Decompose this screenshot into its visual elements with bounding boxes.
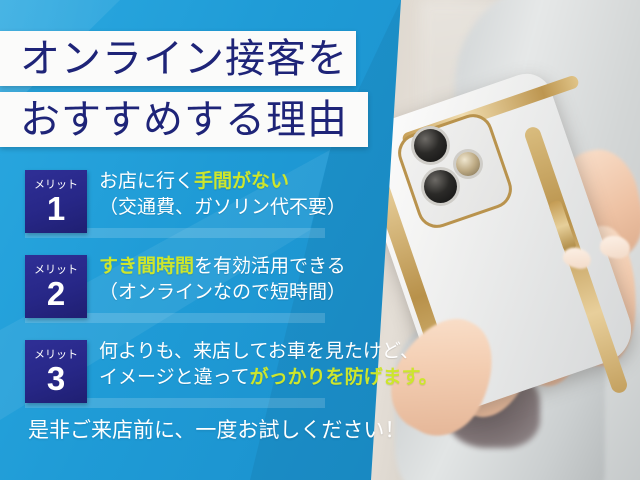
merit-line-1a: お店に行く手間がない [99, 169, 419, 195]
photo-camera-lens-1 [414, 129, 447, 162]
merit-item-2: メリット 2 すき間時間を有効活用できる （オンラインなので短時間） [0, 251, 420, 329]
merit-badge-1: メリット 1 [25, 170, 87, 233]
headline-line1: オンライン接客を [0, 39, 348, 79]
merit-3b-highlight: がっかりを防げます。 [250, 367, 438, 388]
merit-badge-number-1: 1 [47, 192, 65, 225]
merit-text-2: すき間時間を有効活用できる （オンラインなので短時間） [99, 254, 419, 306]
footer-call-to-action: 是非ご来店前に、一度お試しください！ [0, 418, 420, 443]
merit-2a-highlight: すき間時間 [99, 256, 194, 277]
merit-item-1: メリット 1 お店に行く手間がない （交通費、ガソリン代不要） [0, 166, 420, 244]
merit-line-2b: （オンラインなので短時間） [99, 280, 419, 306]
merit-line-3b: イメージと違ってがっかりを防げます。 [99, 365, 419, 391]
merit-badge-3: メリット 3 [25, 340, 87, 403]
merit-1a-highlight: 手間がない [194, 171, 289, 192]
merit-line-3a: 何よりも、来店してお車を見たけど、 [99, 339, 419, 365]
merit-badge-number-3: 3 [47, 362, 65, 395]
footer-text: 是非ご来店前に、一度お試しください！ [0, 418, 420, 443]
online-service-promo-banner: オンライン接客を おすすめする理由 メリット 1 お店に行く手間がない （交通費… [0, 0, 640, 480]
photo-camera-flash [456, 152, 480, 176]
merit-list: メリット 1 お店に行く手間がない （交通費、ガソリン代不要） メリット 2 す… [0, 166, 420, 421]
merit-text-1: お店に行く手間がない （交通費、ガソリン代不要） [99, 169, 419, 221]
headline-line2: おすすめする理由 [0, 100, 348, 140]
merit-2a-post: を有効活用できる [194, 256, 346, 277]
headline-band-line2: おすすめする理由 [0, 92, 368, 147]
merit-1b-pre: （交通費、ガソリン代不要） [99, 197, 346, 218]
merit-3b-pre: イメージと違って [99, 367, 250, 388]
merit-item-3: メリット 3 何よりも、来店してお車を見たけど、 イメージと違ってがっかりを防げ… [0, 336, 420, 414]
merit-3a-pre: 何よりも、来店してお車を見たけど、 [99, 341, 419, 362]
merit-2b-pre: （オンラインなので短時間） [99, 282, 346, 303]
merit-text-3: 何よりも、来店してお車を見たけど、 イメージと違ってがっかりを防げます。 [99, 339, 419, 391]
merit-badge-2: メリット 2 [25, 255, 87, 318]
merit-1a-pre: お店に行く [99, 171, 194, 192]
headline-band-line1: オンライン接客を [0, 31, 356, 86]
merit-line-2a: すき間時間を有効活用できる [99, 254, 419, 280]
merit-line-1b: （交通費、ガソリン代不要） [99, 195, 419, 221]
photo-camera-lens-2 [424, 170, 457, 203]
merit-badge-number-2: 2 [47, 277, 65, 310]
